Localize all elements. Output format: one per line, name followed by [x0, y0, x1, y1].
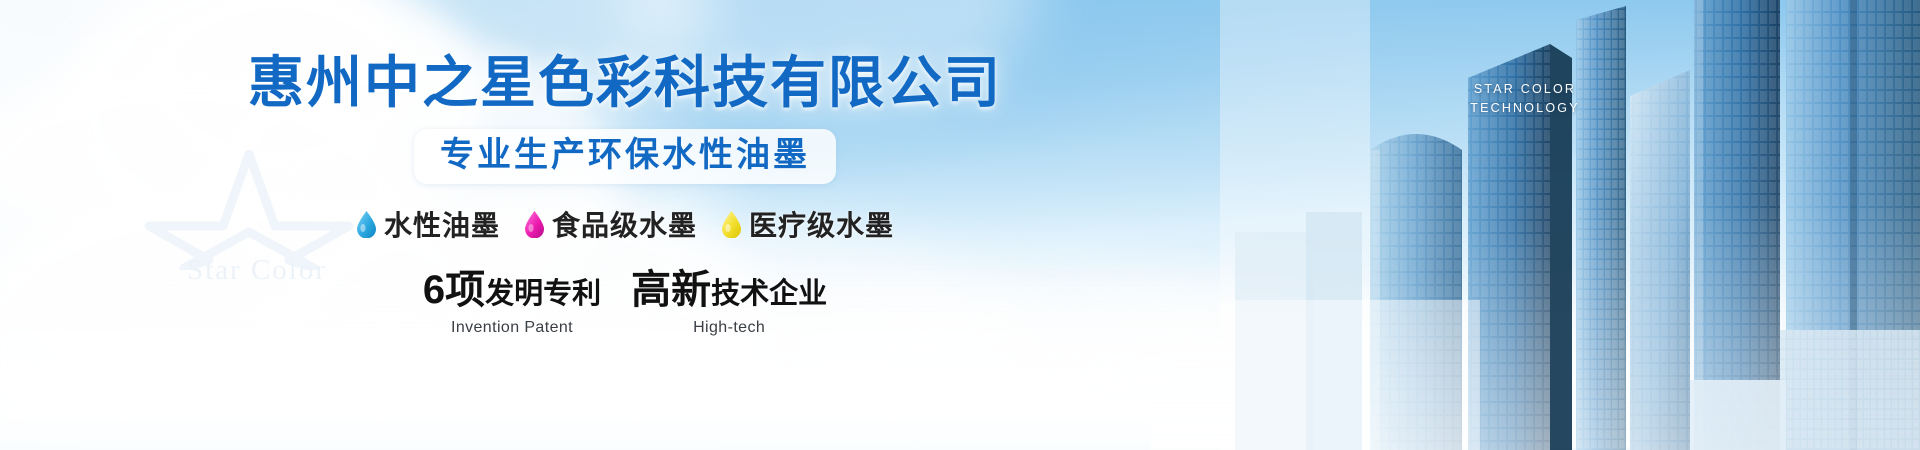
badge-highlight: 高新	[631, 270, 711, 310]
badge-chinese: 6项 发明专利	[423, 270, 601, 310]
promo-banner: Star Color	[0, 0, 1920, 450]
badge-text: 发明专利	[485, 280, 601, 309]
banner-content: 惠州中之星色彩科技有限公司 专业生产环保水性油墨 水性油墨	[0, 0, 1250, 450]
corner-brand-label: STAR COLOR TECHNOLOGY	[1460, 80, 1590, 119]
corner-label-line2: TECHNOLOGY	[1460, 99, 1590, 118]
water-drop-icon	[356, 210, 377, 238]
corner-label-line1: STAR COLOR	[1460, 80, 1590, 99]
water-drop-icon	[721, 210, 742, 238]
product-label: 食品级水墨	[552, 204, 697, 244]
badge-text: 技术企业	[711, 280, 827, 309]
company-title: 惠州中之星色彩科技有限公司	[248, 55, 1002, 111]
badge-english: High-tech	[693, 319, 765, 337]
product-item: 水性油墨	[356, 204, 500, 244]
skyscraper-photo	[1220, 0, 1920, 450]
product-label: 水性油墨	[384, 204, 500, 244]
badge-highlight: 6项	[423, 270, 485, 310]
badge-chinese: 高新 技术企业	[631, 270, 827, 310]
subtitle-pill: 专业生产环保水性油墨	[414, 129, 836, 184]
product-label: 医疗级水墨	[749, 204, 894, 244]
badge-english: Invention Patent	[451, 319, 573, 337]
badge-high-tech: 高新 技术企业 High-tech	[631, 270, 827, 337]
buildings-illustration	[1220, 0, 1920, 450]
product-item: 食品级水墨	[524, 204, 697, 244]
product-list: 水性油墨 食品级水墨	[356, 204, 894, 244]
badge-invention-patent: 6项 发明专利 Invention Patent	[423, 270, 601, 337]
credential-badges: 6项 发明专利 Invention Patent 高新 技术企业 High-te…	[423, 270, 827, 337]
product-item: 医疗级水墨	[721, 204, 894, 244]
banner-subtitle: 专业生产环保水性油墨	[440, 136, 810, 175]
water-drop-icon	[524, 210, 545, 238]
